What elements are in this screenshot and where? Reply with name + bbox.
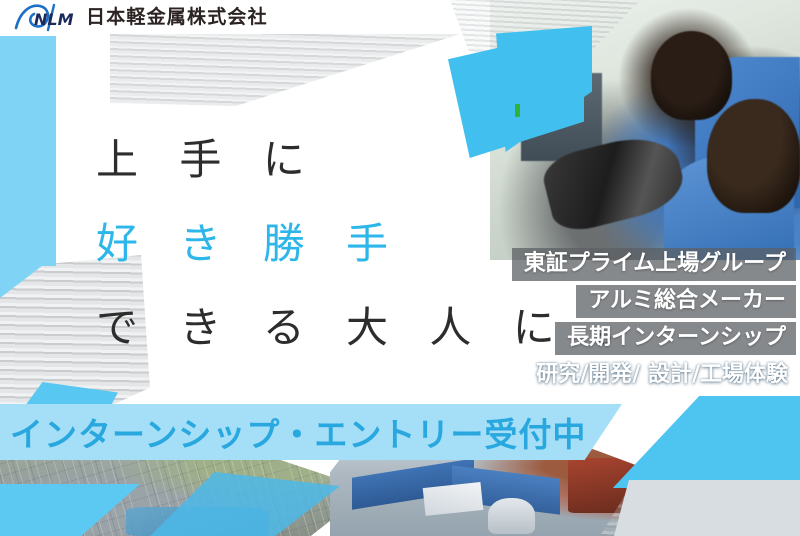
headline-line-1: 上 手 に bbox=[96, 118, 652, 202]
green-accent-mark bbox=[515, 104, 520, 117]
badge-long-term-internship: 長期インターンシップ bbox=[555, 322, 796, 355]
factory-tank bbox=[488, 498, 535, 534]
svg-text:NLM: NLM bbox=[34, 10, 74, 29]
panel-bottom-right bbox=[614, 480, 800, 536]
badge-listed-group: 東証プライム上場グループ bbox=[512, 248, 796, 281]
nlm-swoosh-logo-icon: NLM bbox=[14, 2, 80, 32]
researcher-head-female bbox=[707, 99, 800, 213]
badge-program-areas: 研究/開発/ 設計/工場体験 bbox=[524, 359, 796, 392]
internship-recruitment-banner: NLM 日本軽金属株式会社 上 手 に 好 き 勝 手 で き る 大 人 に … bbox=[0, 0, 800, 536]
company-name: 日本軽金属株式会社 bbox=[86, 8, 268, 27]
cyan-shape-left-taper bbox=[0, 36, 48, 298]
wood-texture-top bbox=[110, 34, 460, 106]
logo-bar: NLM 日本軽金属株式会社 bbox=[0, 0, 800, 34]
factory-roof-white bbox=[422, 482, 482, 515]
entry-banner-label: インターンシップ・エントリー受付中 bbox=[10, 406, 630, 458]
researcher-head-male bbox=[651, 31, 732, 119]
badge-aluminum-maker: アルミ総合メーカー bbox=[576, 285, 796, 318]
feature-badge-list: 東証プライム上場グループ アルミ総合メーカー 長期インターンシップ 研究/開発/… bbox=[512, 248, 796, 392]
